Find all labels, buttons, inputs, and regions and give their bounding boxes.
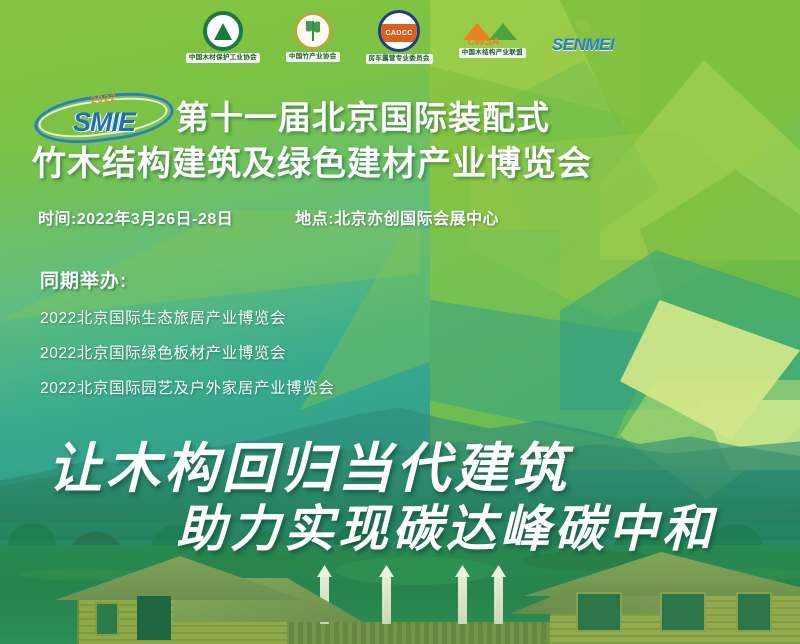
cabin-window [660, 592, 706, 632]
umbrella-icon [382, 570, 391, 624]
logo-china-wood-protection: 中国木材保护工业协会 [186, 11, 260, 62]
logo-wordmark: SENMEI [552, 35, 614, 55]
concurrent-events-heading: 同期举办: [40, 266, 334, 293]
event-meta: 时间:2022年3月26日-28日 地点:北京亦创国际会展中心 [38, 205, 499, 229]
leaf-icon [574, 17, 592, 35]
logo-bamboo-industry-association: 中国竹产业协会 [286, 12, 340, 61]
wooden-cabin-right [510, 552, 800, 644]
sponsor-logo-strip: 中国木材保护工业协会 中国竹产业协会 CADCC 房车露营专业委员会 CWSA … [0, 6, 800, 68]
logo-senmei: SENMEI [552, 19, 614, 55]
cabin-door [137, 596, 171, 640]
umbrella-icon [494, 570, 503, 624]
poster-title: 第十一届北京国际装配式 竹木结构建筑及绿色建材产业博览会 [176, 96, 550, 140]
logo-cwsa: CWSA 中国木结构产业联盟 [459, 16, 526, 57]
cabin-window [736, 592, 772, 632]
title-line-2: 竹木结构建筑及绿色建材产业博览会 [32, 142, 592, 187]
slogan-line-2: 助力实现碳达峰碳中和 [176, 489, 716, 561]
cadcc-seal-icon: CADCC [378, 10, 420, 52]
umbrella-icon [458, 570, 467, 624]
bamboo-seal-icon [294, 12, 332, 50]
logo-caption: 中国竹产业协会 [286, 52, 340, 61]
smie-wordmark: SMIE [34, 107, 174, 138]
logo-cadcc: CADCC 房车露营专业委员会 [366, 10, 433, 63]
logo-acronym: CADCC [385, 30, 412, 37]
concurrent-events-block: 同期举办: 2022北京国际生态旅居产业博览会 2022北京国际绿色板材产业博览… [40, 266, 334, 411]
event-venue: 地点:北京亦创国际会展中心 [295, 205, 499, 229]
tree-shield-icon [203, 11, 243, 51]
concurrent-event-item: 2022北京国际生态旅居产业博览会 [40, 306, 334, 328]
cabin-window [576, 592, 622, 632]
logo-caption: 房车露营专业委员会 [366, 54, 433, 63]
exhibition-poster: 中国木材保护工业协会 中国竹产业协会 CADCC 房车露营专业委员会 CWSA … [0, 0, 800, 644]
house-roof-icon: CWSA [463, 16, 521, 46]
concurrent-event-item: 2022北京国际园艺及户外家居产业博览会 [40, 376, 334, 398]
logo-caption: 中国木结构产业联盟 [459, 48, 526, 57]
smie-logo: 2022 SMIE [34, 95, 174, 141]
event-date: 时间:2022年3月26日-28日 [38, 205, 233, 229]
concurrent-event-item: 2022北京国际绿色板材产业博览会 [40, 341, 334, 363]
cabin-window [95, 602, 119, 636]
logo-caption: 中国木材保护工业协会 [186, 53, 260, 62]
wooden-cabin-left [55, 558, 375, 644]
title-line-1: 第十一届北京国际装配式 [176, 96, 550, 140]
logo-acronym: CWSA [467, 36, 499, 48]
